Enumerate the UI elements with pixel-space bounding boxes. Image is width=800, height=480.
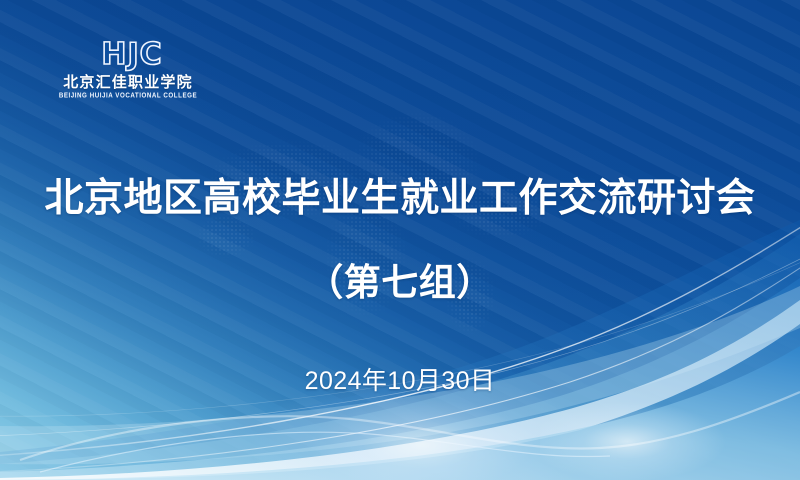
wave-glow-right [540,400,730,480]
event-date: 2024年10月30日 [0,361,800,397]
page-title: 北京地区高校毕业生就业工作交流研讨会 [0,176,800,222]
logo-chinese-name: 北京汇佳职业学院 [58,75,198,90]
title-block: 北京地区高校毕业生就业工作交流研讨会 （第七组） [0,176,800,306]
college-logo: HJC 北京汇佳职业学院 BEIJING HUIJIA VOCATIONAL C… [58,40,198,99]
logo-english-name: BEIJING HUIJIA VOCATIONAL COLLEGE [58,93,198,100]
logo-monogram-hjc: HJC [66,40,198,70]
title-slide: HJC 北京汇佳职业学院 BEIJING HUIJIA VOCATIONAL C… [0,0,800,480]
page-subtitle-group: （第七组） [0,252,800,306]
